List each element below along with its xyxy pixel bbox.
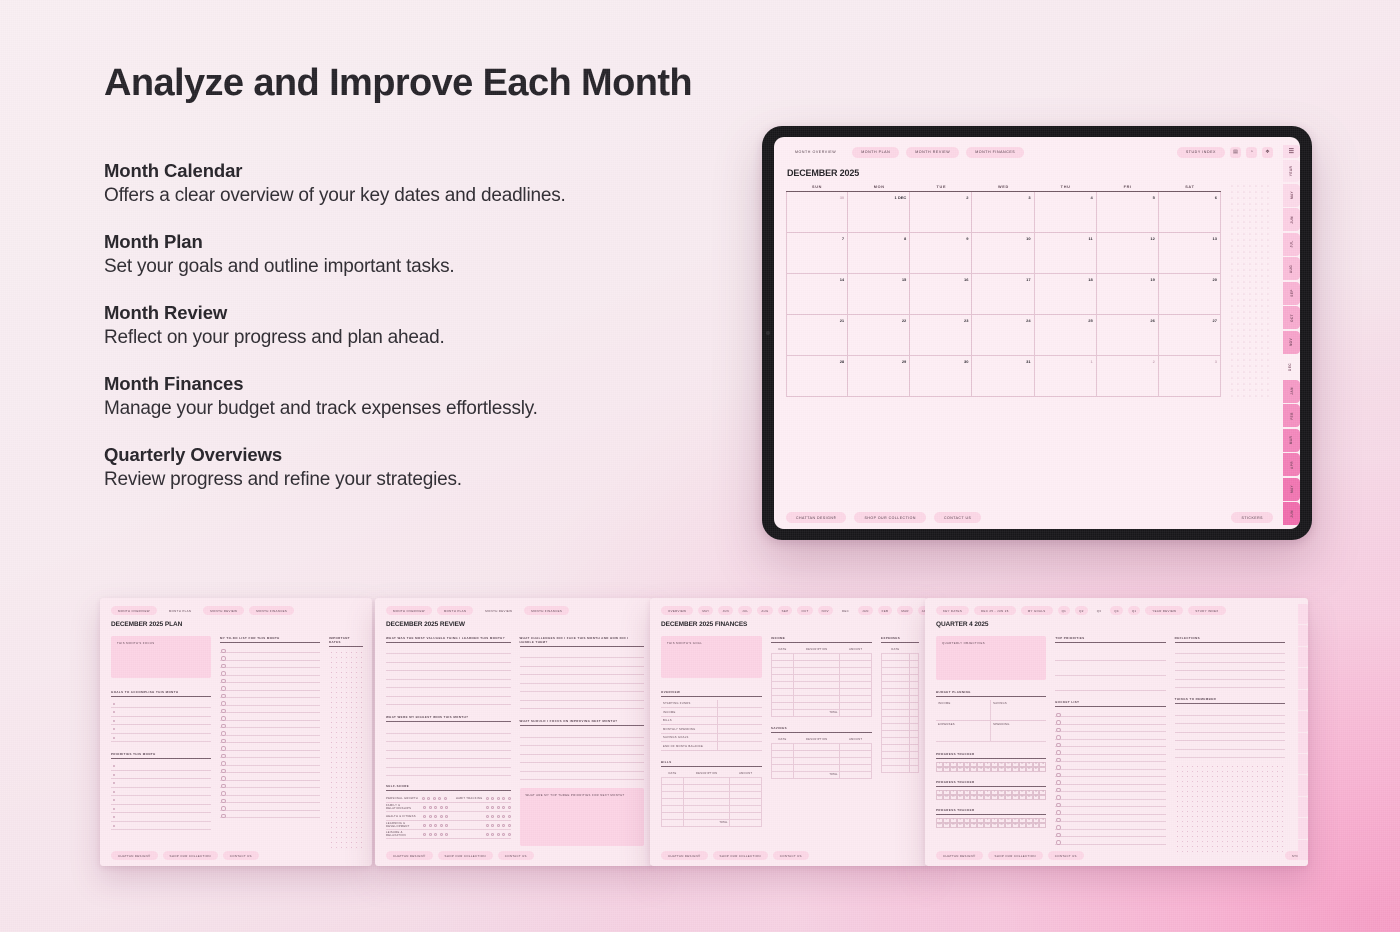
- score-circle[interactable]: [422, 797, 425, 800]
- finances-nav-jun[interactable]: JUN: [718, 606, 733, 615]
- expenses-table[interactable]: DATE: [881, 646, 919, 773]
- tracker-cell[interactable]: 28: [1012, 795, 1019, 800]
- score-circles[interactable]: [422, 797, 447, 800]
- divider: [771, 642, 872, 643]
- quarter-nav-q1[interactable]: Q1: [1058, 606, 1071, 615]
- page-quarterly-overview[interactable]: KEY DATESDEC 25 - JUN 26MY GOALSQ1Q2Q3Q4…: [925, 598, 1308, 866]
- score-circle[interactable]: [440, 824, 443, 827]
- month-tab-label: JAN: [1289, 387, 1293, 395]
- score-circle[interactable]: [497, 815, 500, 818]
- day-number: 5: [1153, 195, 1155, 200]
- score-circle[interactable]: [502, 797, 505, 800]
- score-circle[interactable]: [423, 815, 426, 818]
- calendar-day-cell[interactable]: 26: [1097, 315, 1159, 355]
- finances-nav-aug[interactable]: AUG: [757, 606, 772, 615]
- calendar-day-cell[interactable]: 1: [1035, 356, 1097, 396]
- stickers-button[interactable]: STICKERS: [1231, 512, 1273, 523]
- overview-row-value[interactable]: [717, 708, 762, 716]
- overview-row-value[interactable]: [717, 742, 762, 750]
- review-nav: MONTH OVERVIEW MONTH PLAN MONTH REVIEW M…: [386, 606, 644, 615]
- score-circle[interactable]: [427, 797, 430, 800]
- score-circle[interactable]: [429, 833, 432, 836]
- tracker-cell[interactable]: 29: [1019, 823, 1026, 828]
- quarter-nav-year-review[interactable]: YEAR REVIEW: [1145, 606, 1183, 615]
- score-circle[interactable]: [423, 806, 426, 809]
- footer-brand[interactable]: CHATTAN DESIGN®: [386, 851, 433, 860]
- review-nav-overview[interactable]: MONTH OVERVIEW: [386, 606, 432, 615]
- calendar-grid: SUN MON TUE WED THU FRI SAT 301 DEC23456…: [786, 185, 1221, 397]
- tracker-cell[interactable]: 24: [984, 823, 991, 828]
- finances-nav-nov[interactable]: NOV: [818, 606, 833, 615]
- tablet-screen: MONTH OVERVIEW MONTH PLAN MONTH REVIEW M…: [774, 137, 1300, 529]
- score-circle[interactable]: [440, 806, 443, 809]
- tracker-cell[interactable]: 22: [970, 795, 977, 800]
- tracker-cell[interactable]: 25: [991, 823, 998, 828]
- footer-contact[interactable]: CONTACT US: [934, 512, 981, 523]
- quarter-nav-q3[interactable]: Q3: [1093, 606, 1106, 615]
- score-circle[interactable]: [445, 815, 448, 818]
- overview-table[interactable]: STARTING FUNDSINCOMEBILLSMONTHLY SPENDIN…: [661, 700, 762, 751]
- score-circle[interactable]: [502, 815, 505, 818]
- divider: [386, 642, 511, 643]
- tracker-cell[interactable]: 26: [998, 823, 1005, 828]
- this-months-focus-box[interactable]: THIS MONTH'S FOCUS: [111, 636, 211, 678]
- overview-row[interactable]: INCOME: [661, 708, 762, 717]
- progress-tracker-1[interactable]: 1234567891011121314151617181920212223242…: [936, 762, 1046, 772]
- score-row[interactable]: HEALTH & FITNESS: [386, 812, 511, 821]
- calendar-day-cell[interactable]: 16: [910, 274, 972, 314]
- goals-lines[interactable]: [111, 700, 211, 743]
- quarter-nav-q4[interactable]: Q4: [1110, 606, 1123, 615]
- footer-brand[interactable]: CHATTAN DESIGN®: [786, 512, 846, 523]
- score-circle[interactable]: [508, 797, 511, 800]
- self-score-table[interactable]: PERSONAL GROWTHHABIT TRACKINGFAMILY & RE…: [386, 794, 511, 839]
- tracker-cell[interactable]: 25: [991, 767, 998, 772]
- quarter-nav-q2[interactable]: Q2: [1075, 606, 1088, 615]
- page-month-review[interactable]: MONTH OVERVIEW MONTH PLAN MONTH REVIEW M…: [375, 598, 653, 866]
- calendar-day-cell[interactable]: 19: [1097, 274, 1159, 314]
- tracker-cell[interactable]: 23: [977, 823, 984, 828]
- reflections-lines[interactable]: [1175, 646, 1285, 689]
- tracker-cell[interactable]: [1039, 795, 1046, 800]
- score-circle[interactable]: [491, 797, 494, 800]
- month-tab-jul[interactable]: JUL: [1283, 233, 1300, 256]
- nav-month-overview[interactable]: MONTH OVERVIEW: [786, 147, 845, 158]
- nav-study-index[interactable]: STUDY INDEX: [1177, 147, 1225, 158]
- feature-title: Month Plan: [104, 231, 804, 253]
- finances-nav-oct[interactable]: OCT: [797, 606, 812, 615]
- tracker-cell[interactable]: 26: [998, 767, 1005, 772]
- finances-nav[interactable]: OVERVIEWMAYJUNJULAUGSEPOCTNOVDECJANFEBMA…: [661, 606, 919, 615]
- month-tab-label: FEB: [1289, 412, 1293, 420]
- calendar-day-cell[interactable]: 1 DEC: [848, 192, 910, 232]
- calendar-day-cell[interactable]: 27: [1159, 315, 1221, 355]
- score-circle[interactable]: [423, 833, 426, 836]
- calculator-icon[interactable]: ▤: [1230, 147, 1241, 158]
- overview-row-value[interactable]: [717, 717, 762, 725]
- savings-table[interactable]: DATEDESCRIPTIONAMOUNT TOTAL: [771, 736, 872, 779]
- calendar-day-cell[interactable]: 11: [1035, 233, 1097, 273]
- month-tab-jun[interactable]: JUN: [1283, 502, 1300, 525]
- month-tab-jun[interactable]: JUN: [1283, 208, 1300, 231]
- finances-nav-sep[interactable]: SEP: [778, 606, 793, 615]
- score-circle[interactable]: [497, 824, 500, 827]
- tracker-cell[interactable]: 22: [970, 767, 977, 772]
- score-circles[interactable]: [486, 824, 511, 827]
- finances-columns: THIS MONTH'S GOAL OVERVIEW STARTING FUND…: [661, 636, 919, 827]
- month-tab-may[interactable]: MAY: [1283, 184, 1300, 207]
- overview-row-value[interactable]: [717, 734, 762, 742]
- score-circle[interactable]: [491, 824, 494, 827]
- calendar-day-cell[interactable]: 30: [910, 356, 972, 396]
- side-tab: [1298, 668, 1308, 688]
- calendar-day-cell[interactable]: 22: [848, 315, 910, 355]
- side-tab: [1298, 797, 1308, 817]
- quarter-nav-my-goals[interactable]: MY GOALS: [1021, 606, 1053, 615]
- tracker-cell[interactable]: 19: [950, 823, 957, 828]
- score-row-label: FAMILY & RELATIONSHIPS: [386, 804, 423, 810]
- tracker-cell[interactable]: 20: [957, 823, 964, 828]
- clock-icon[interactable]: ◔: [1246, 147, 1257, 158]
- bucket-list-lines[interactable]: [1055, 710, 1165, 845]
- tracker-cell[interactable]: 28: [1012, 767, 1019, 772]
- tracker-cell[interactable]: 30: [1026, 767, 1033, 772]
- footer-shop[interactable]: SHOP OUR COLLECTION: [163, 851, 218, 860]
- tracker-cell[interactable]: 20: [957, 795, 964, 800]
- calendar-day-cell[interactable]: 15: [848, 274, 910, 314]
- overview-row-value[interactable]: [717, 725, 762, 733]
- calendar-day-cell[interactable]: 7: [786, 233, 848, 273]
- score-circle[interactable]: [502, 806, 505, 809]
- footer-shop[interactable]: SHOP OUR COLLECTION: [988, 851, 1043, 860]
- top-navigation: MONTH OVERVIEW MONTH PLAN MONTH REVIEW M…: [786, 145, 1273, 159]
- calendar-day-cell[interactable]: 18: [1035, 274, 1097, 314]
- month-tab-apr[interactable]: APR: [1283, 453, 1300, 476]
- review-q2-lines[interactable]: [520, 650, 645, 710]
- tracker-cell[interactable]: 27: [1005, 823, 1012, 828]
- score-circle[interactable]: [508, 815, 511, 818]
- score-circle[interactable]: [491, 815, 494, 818]
- calendar-day-cell[interactable]: 28: [786, 356, 848, 396]
- tracker-cell[interactable]: 25: [991, 795, 998, 800]
- footer-contact[interactable]: CONTACT US: [498, 851, 534, 860]
- tracker-cell[interactable]: 29: [1019, 795, 1026, 800]
- calendar-day-cell[interactable]: 8: [848, 233, 910, 273]
- plan-nav-review[interactable]: MONTH REVIEW: [203, 606, 244, 615]
- score-circle[interactable]: [445, 806, 448, 809]
- overview-row[interactable]: END OF MONTH BALANCE: [661, 742, 762, 751]
- month-tab-may[interactable]: MAY: [1283, 478, 1300, 501]
- score-circle[interactable]: [445, 833, 448, 836]
- tracker-cell[interactable]: 24: [984, 795, 991, 800]
- score-circles[interactable]: [423, 833, 448, 836]
- tracker-cell[interactable]: 31: [1033, 795, 1040, 800]
- calendar-day-cell[interactable]: 2: [910, 192, 972, 232]
- month-tab-dec[interactable]: DEC: [1280, 355, 1300, 378]
- tracker-cell[interactable]: 19: [950, 795, 957, 800]
- finances-nav-feb[interactable]: FEB: [878, 606, 893, 615]
- tracker-cell[interactable]: 26: [998, 795, 1005, 800]
- calendar-day-cell[interactable]: 6: [1159, 192, 1221, 232]
- score-circle[interactable]: [486, 833, 489, 836]
- finances-nav-may[interactable]: MAY: [698, 606, 713, 615]
- overview-row-label: MONTHLY SPENDING: [661, 728, 717, 731]
- tracker-cell[interactable]: 30: [1026, 795, 1033, 800]
- bills-table[interactable]: DATEDESCRIPTIONAMOUNT TOTAL: [661, 770, 762, 827]
- quarter-nav-q1[interactable]: Q1: [1128, 606, 1141, 615]
- calendar-day-cell[interactable]: 4: [1035, 192, 1097, 232]
- tracker-cell[interactable]: 22: [970, 823, 977, 828]
- score-circle[interactable]: [429, 824, 432, 827]
- finances-nav-jul[interactable]: JUL: [738, 606, 752, 615]
- month-tab-jan[interactable]: JAN: [1283, 380, 1300, 403]
- score-circle[interactable]: [502, 824, 505, 827]
- calendar-weeks[interactable]: 301 DEC234567891011121314151617181920212…: [786, 191, 1221, 397]
- footer-brand[interactable]: CHATTAN DESIGN®: [111, 851, 158, 860]
- score-circles[interactable]: [423, 824, 448, 827]
- month-tab-nov[interactable]: NOV: [1283, 331, 1300, 354]
- score-circle[interactable]: [491, 806, 494, 809]
- day-number: 11: [1088, 236, 1092, 241]
- calendar-day-cell[interactable]: 12: [1097, 233, 1159, 273]
- bucket-list-label: BUCKET LIST: [1055, 700, 1165, 704]
- overview-row[interactable]: MONTHLY SPENDING: [661, 725, 762, 734]
- day-number: 16: [964, 277, 968, 282]
- tracker-cell[interactable]: 31: [1033, 823, 1040, 828]
- day-number: 4: [1090, 195, 1092, 200]
- calendar-area: SUN MON TUE WED THU FRI SAT 301 DEC23456…: [786, 185, 1273, 397]
- score-circle[interactable]: [429, 815, 432, 818]
- tracker-cell[interactable]: 19: [950, 767, 957, 772]
- months-goal-box[interactable]: THIS MONTH'S GOAL: [661, 636, 762, 678]
- important-dates-dot-grid[interactable]: [329, 650, 363, 850]
- quarter-nav[interactable]: KEY DATESDEC 25 - JUN 26MY GOALSQ1Q2Q3Q4…: [936, 606, 1299, 615]
- score-circle[interactable]: [502, 833, 505, 836]
- calendar-day-cell[interactable]: 17: [972, 274, 1034, 314]
- score-circle[interactable]: [440, 833, 443, 836]
- tracker-cell[interactable]: 27: [1005, 795, 1012, 800]
- score-circles[interactable]: [423, 806, 448, 809]
- nav-right-group: STUDY INDEX ▤ ◔ ❖: [1177, 147, 1273, 158]
- month-tab-oct[interactable]: OCT: [1283, 306, 1300, 329]
- overview-row[interactable]: SAVINGS GOALS: [661, 734, 762, 743]
- footer-brand[interactable]: CHATTAN DESIGN®: [661, 851, 708, 860]
- budget-grid[interactable]: INCOME SAVINGS EXPENSES SPENDING: [936, 700, 1046, 742]
- footer-contact[interactable]: CONTACT US: [223, 851, 259, 860]
- tracker-cell[interactable]: 28: [1012, 823, 1019, 828]
- calendar-day-cell[interactable]: 23: [910, 315, 972, 355]
- calendar-day-cell[interactable]: 10: [972, 233, 1034, 273]
- overview-row[interactable]: BILLS: [661, 717, 762, 726]
- calendar-day-cell[interactable]: 14: [786, 274, 848, 314]
- score-circle[interactable]: [440, 815, 443, 818]
- score-circle[interactable]: [508, 833, 511, 836]
- tracker-cell[interactable]: [1039, 767, 1046, 772]
- overview-row-value[interactable]: [717, 700, 762, 708]
- calendar-day-cell[interactable]: 21: [786, 315, 848, 355]
- review-q1-lines[interactable]: [386, 646, 511, 706]
- nav-month-finances[interactable]: MONTH FINANCES: [966, 147, 1024, 158]
- score-circles[interactable]: [486, 806, 511, 809]
- score-circle[interactable]: [497, 797, 500, 800]
- calendar-week: 301 DEC23456: [786, 192, 1221, 233]
- plan-title: DECEMBER 2025 PLAN: [111, 621, 363, 628]
- tracker-cell[interactable]: 27: [1005, 767, 1012, 772]
- divider: [1175, 703, 1285, 704]
- month-tab-strip[interactable]: ☰YEARMAYJUNJULAUGSEPOCTNOVDECJANFEBMARAP…: [1283, 137, 1300, 529]
- tracker-cell[interactable]: 31: [1033, 767, 1040, 772]
- budget-label: BUDGET PLANNING: [936, 690, 1046, 694]
- divider: [936, 696, 1046, 697]
- score-row[interactable]: LEARNING & DEVELOPMENT: [386, 821, 511, 830]
- score-circle[interactable]: [434, 806, 437, 809]
- month-tab-mar[interactable]: MAR: [1283, 429, 1300, 452]
- quarter-dot-grid[interactable]: [1175, 764, 1285, 854]
- score-circle[interactable]: [497, 806, 500, 809]
- income-table[interactable]: DATEDESCRIPTIONAMOUNT TOTAL: [771, 646, 872, 717]
- score-row[interactable]: LEISURE & RELAXATION: [386, 830, 511, 839]
- calendar-day-cell[interactable]: 5: [1097, 192, 1159, 232]
- calendar-day-cell[interactable]: 20: [1159, 274, 1221, 314]
- tracker-cell[interactable]: 23: [977, 767, 984, 772]
- month-tab-year[interactable]: YEAR: [1283, 160, 1300, 183]
- things-to-remember-lines[interactable]: [1175, 707, 1285, 758]
- quarterly-objectives-box[interactable]: QUARTERLY OBJECTIVES: [936, 636, 1046, 680]
- plan-nav-finances[interactable]: MONTH FINANCES: [249, 606, 294, 615]
- score-circle[interactable]: [497, 833, 500, 836]
- score-circle[interactable]: [423, 824, 426, 827]
- month-tab-label: SEP: [1289, 290, 1293, 298]
- bookmark-icon[interactable]: ❖: [1262, 147, 1273, 158]
- tracker-cell[interactable]: 17: [936, 823, 943, 828]
- tracker-cell[interactable]: 21: [964, 795, 971, 800]
- review-nav-plan[interactable]: MONTH PLAN: [437, 606, 473, 615]
- review-nav-review[interactable]: MONTH REVIEW: [478, 606, 519, 615]
- calendar-day-cell[interactable]: 13: [1159, 233, 1221, 273]
- quarter-nav-dec-25-jun-26[interactable]: DEC 25 - JUN 26: [974, 606, 1016, 615]
- score-circle[interactable]: [433, 797, 436, 800]
- tracker-cell[interactable]: [1039, 823, 1046, 828]
- score-circles[interactable]: [486, 797, 511, 800]
- calendar-day-cell[interactable]: 31: [972, 356, 1034, 396]
- finances-col-mid: INCOME DATEDESCRIPTIONAMOUNT TOTAL SAVIN…: [771, 636, 872, 827]
- footer-shop[interactable]: SHOP OUR COLLECTION: [438, 851, 493, 860]
- footer-shop[interactable]: SHOP OUR COLLECTION: [854, 512, 925, 523]
- tracker-cell[interactable]: 21: [964, 823, 971, 828]
- score-circle[interactable]: [508, 806, 511, 809]
- score-circle[interactable]: [491, 833, 494, 836]
- plan-nav-plan[interactable]: MONTH PLAN: [162, 606, 198, 615]
- todo-lines[interactable]: [220, 646, 320, 819]
- tracker-cell[interactable]: 18: [943, 795, 950, 800]
- score-circle[interactable]: [434, 833, 437, 836]
- notes-dot-grid[interactable]: [1227, 185, 1273, 397]
- calendar-day-cell[interactable]: 3: [1159, 356, 1221, 396]
- footer-brand[interactable]: CHATTAN DESIGN®: [936, 851, 983, 860]
- month-tab-label: MAY: [1290, 191, 1294, 199]
- tracker-cell[interactable]: 21: [964, 767, 971, 772]
- month-tab-aug[interactable]: AUG: [1283, 257, 1300, 280]
- review-q3-lines[interactable]: [386, 725, 511, 776]
- score-circle[interactable]: [438, 797, 441, 800]
- score-circle[interactable]: [445, 824, 448, 827]
- side-tab: [1298, 775, 1308, 795]
- priorities-lines[interactable]: [111, 762, 211, 830]
- quarter-nav-study-index[interactable]: STUDY INDEX: [1188, 606, 1225, 615]
- top-priorities-lines[interactable]: [1055, 646, 1165, 691]
- score-circle[interactable]: [486, 797, 489, 800]
- finances-nav-mar[interactable]: MAR: [897, 606, 912, 615]
- score-circles[interactable]: [486, 833, 511, 836]
- finances-nav-dec[interactable]: DEC: [838, 606, 853, 615]
- tracker-cell[interactable]: 29: [1019, 767, 1026, 772]
- day-number: 19: [1150, 277, 1154, 282]
- review-q4-lines[interactable]: [520, 729, 645, 780]
- calendar-day-cell[interactable]: 25: [1035, 315, 1097, 355]
- score-circle[interactable]: [486, 815, 489, 818]
- finances-nav-jan[interactable]: JAN: [858, 606, 873, 615]
- goal-label: THIS MONTH'S GOAL: [667, 641, 756, 645]
- page-month-plan[interactable]: MONTH OVERVIEW MONTH PLAN MONTH REVIEW M…: [100, 598, 372, 866]
- score-circles[interactable]: [423, 815, 448, 818]
- nav-month-plan[interactable]: MONTH PLAN: [852, 147, 899, 158]
- progress-tracker-2[interactable]: 1234567891011121314151617181920212223242…: [936, 790, 1046, 800]
- overview-row[interactable]: STARTING FUNDS: [661, 700, 762, 709]
- tracker-cell[interactable]: 23: [977, 795, 984, 800]
- footer-shop[interactable]: SHOP OUR COLLECTION: [713, 851, 768, 860]
- score-circle[interactable]: [434, 815, 437, 818]
- calendar-day-cell[interactable]: 2: [1097, 356, 1159, 396]
- score-circle[interactable]: [429, 806, 432, 809]
- score-circle[interactable]: [486, 824, 489, 827]
- nav-month-review[interactable]: MONTH REVIEW: [906, 147, 959, 158]
- footer-contact[interactable]: CONTACT US: [773, 851, 809, 860]
- score-row[interactable]: FAMILY & RELATIONSHIPS: [386, 803, 511, 812]
- month-tab-feb[interactable]: FEB: [1283, 404, 1300, 427]
- month-tab-sep[interactable]: SEP: [1283, 282, 1300, 305]
- page-month-finances[interactable]: OVERVIEWMAYJUNJULAUGSEPOCTNOVDECJANFEBMA…: [650, 598, 928, 866]
- progress-tracker-3[interactable]: 1234567891011121314151617181920212223242…: [936, 818, 1046, 828]
- calendar-day-cell[interactable]: 30: [786, 192, 848, 232]
- footer-contact[interactable]: CONTACT US: [1048, 851, 1084, 860]
- score-circle[interactable]: [508, 824, 511, 827]
- calendar-day-cell[interactable]: 3: [972, 192, 1034, 232]
- col-description: DESCRIPTION: [794, 736, 840, 744]
- review-nav-finances[interactable]: MONTH FINANCES: [524, 606, 569, 615]
- score-circle[interactable]: [486, 806, 489, 809]
- tracker-cell[interactable]: 18: [943, 823, 950, 828]
- calendar-day-cell[interactable]: 24: [972, 315, 1034, 355]
- tracker-cell[interactable]: 17: [936, 767, 943, 772]
- month-tab-label: OCT: [1290, 314, 1294, 322]
- calendar-day-cell[interactable]: 9: [910, 233, 972, 273]
- score-circle[interactable]: [434, 824, 437, 827]
- menu-icon[interactable]: ☰: [1283, 145, 1300, 158]
- score-circles[interactable]: [486, 815, 511, 818]
- tracker-cell[interactable]: 17: [936, 795, 943, 800]
- tracker-cell[interactable]: 18: [943, 767, 950, 772]
- top-three-priorities-box[interactable]: WHAT ARE MY TOP THREE PRIORITIES FOR NEX…: [520, 788, 645, 846]
- quarter-side-tabs[interactable]: [1298, 598, 1308, 866]
- calendar-day-cell[interactable]: 29: [848, 356, 910, 396]
- tracker-cell[interactable]: 20: [957, 767, 964, 772]
- quarter-nav-key-dates[interactable]: KEY DATES: [936, 606, 969, 615]
- plan-nav-overview[interactable]: MONTH OVERVIEW: [111, 606, 157, 615]
- tracker-cell[interactable]: 30: [1026, 823, 1033, 828]
- tracker-cell[interactable]: 24: [984, 767, 991, 772]
- finances-nav-overview[interactable]: OVERVIEW: [661, 606, 693, 615]
- score-row[interactable]: PERSONAL GROWTHHABIT TRACKING: [386, 794, 511, 803]
